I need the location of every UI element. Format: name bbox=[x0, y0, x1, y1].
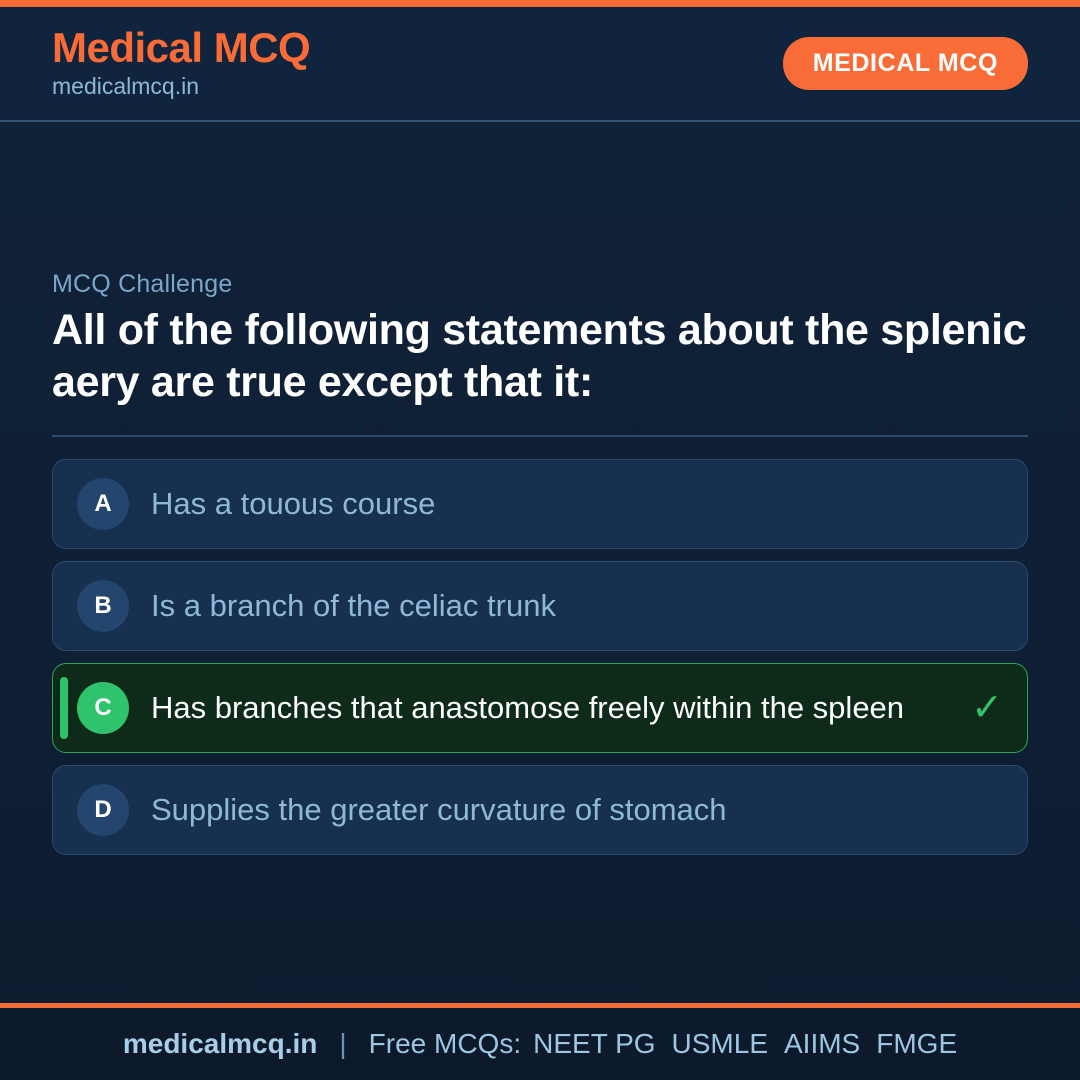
mcq-card: Medical MCQ medicalmcq.in MEDICAL MCQ MC… bbox=[0, 0, 1080, 1080]
footer-content: medicalmcq.in | Free MCQs: NEET PG USMLE… bbox=[123, 1028, 957, 1060]
footer-tag-usmle: USMLE bbox=[672, 1028, 768, 1060]
footer-site: medicalmcq.in bbox=[123, 1028, 318, 1060]
brand-block: Medical MCQ medicalmcq.in bbox=[52, 26, 310, 102]
option-text-d: Supplies the greater curvature of stomac… bbox=[151, 792, 1003, 827]
brand-title: Medical MCQ bbox=[52, 26, 310, 70]
option-row-b[interactable]: B Is a branch of the celiac trunk bbox=[52, 561, 1028, 651]
option-badge-d: D bbox=[77, 784, 129, 836]
footer-tag-fmge: FMGE bbox=[876, 1028, 957, 1060]
brand-subtitle: medicalmcq.in bbox=[52, 72, 310, 102]
option-text-b: Is a branch of the celiac trunk bbox=[151, 588, 1003, 623]
option-text-c: Has branches that anastomose freely with… bbox=[151, 690, 953, 725]
footer-label: Free MCQs: bbox=[369, 1028, 521, 1060]
check-icon: ✓ bbox=[971, 689, 1003, 727]
footer-tag-neetpg: NEET PG bbox=[533, 1028, 655, 1060]
option-text-a: Has a touous course bbox=[151, 486, 1003, 521]
option-badge-b: B bbox=[77, 580, 129, 632]
top-accent-bar bbox=[0, 0, 1080, 7]
header: Medical MCQ medicalmcq.in MEDICAL MCQ bbox=[0, 7, 1080, 122]
correct-accent-bar bbox=[60, 677, 68, 739]
option-badge-c: C bbox=[77, 682, 129, 734]
brand-badge: MEDICAL MCQ bbox=[783, 37, 1028, 90]
options-list: A Has a touous course B Is a branch of t… bbox=[52, 459, 1028, 855]
footer: medicalmcq.in | Free MCQs: NEET PG USMLE… bbox=[0, 1008, 1080, 1080]
footer-separator: | bbox=[339, 1028, 346, 1060]
footer-tag-aiims: AIIMS bbox=[784, 1028, 860, 1060]
option-row-d[interactable]: D Supplies the greater curvature of stom… bbox=[52, 765, 1028, 855]
option-row-c[interactable]: C Has branches that anastomose freely wi… bbox=[52, 663, 1028, 753]
question-divider bbox=[52, 435, 1028, 437]
option-row-a[interactable]: A Has a touous course bbox=[52, 459, 1028, 549]
question-text: All of the following statements about th… bbox=[52, 305, 1028, 408]
question-body: MCQ Challenge All of the following state… bbox=[0, 122, 1080, 1003]
option-badge-a: A bbox=[77, 478, 129, 530]
eyebrow-label: MCQ Challenge bbox=[52, 270, 1028, 299]
